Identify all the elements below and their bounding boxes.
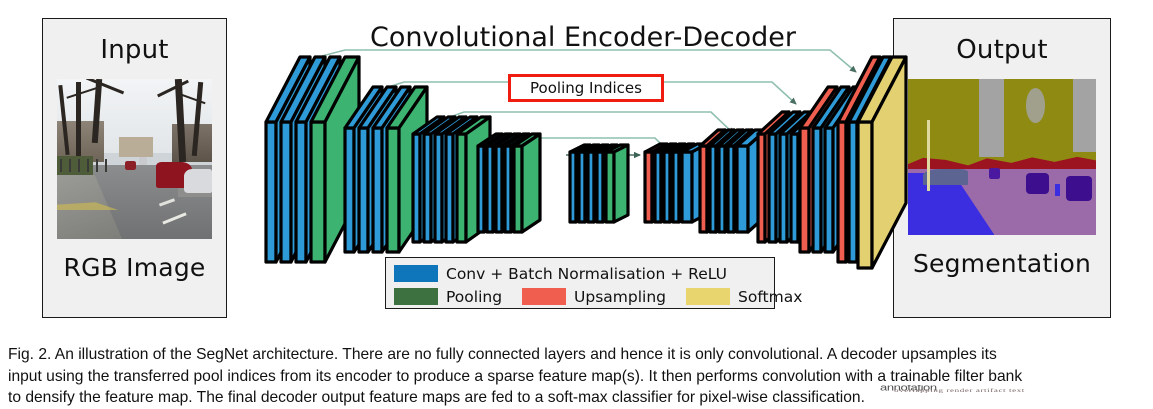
legend-swatch-pooling bbox=[394, 288, 438, 305]
legend-row-conv: Conv + Batch Normalisation + ReLU bbox=[386, 262, 774, 285]
caption-render-artifact: annotation overlapping render artifact t… bbox=[880, 385, 1145, 403]
legend-swatch-upsampling bbox=[522, 288, 566, 305]
legend-label-upsampling: Upsampling bbox=[574, 288, 666, 306]
legend-label-conv: Conv + Batch Normalisation + ReLU bbox=[446, 265, 727, 283]
figure-segnet-architecture: Input bbox=[0, 0, 1153, 340]
legend-label-pooling: Pooling bbox=[446, 288, 502, 306]
caption-artifact-text-2: overlapping render artifact text bbox=[894, 387, 1025, 393]
pooling-indices-label: Pooling Indices bbox=[530, 79, 642, 97]
caption-line-1: Fig. 2. An illustration of the SegNet ar… bbox=[8, 344, 1148, 366]
caption-line-2: input using the transferred pool indices… bbox=[8, 366, 1148, 388]
encoder-block-5 bbox=[570, 145, 628, 222]
encoder-block-4 bbox=[478, 134, 540, 232]
decoder-block-2 bbox=[700, 130, 766, 232]
legend-swatch-softmax bbox=[686, 288, 730, 305]
legend-label-softmax: Softmax bbox=[738, 288, 802, 306]
legend-swatch-conv bbox=[394, 265, 438, 282]
decoder-block-1 bbox=[645, 144, 707, 222]
legend-row-bottom: Pooling Upsampling Softmax bbox=[386, 285, 774, 308]
pooling-indices-box: Pooling Indices bbox=[508, 74, 664, 102]
legend: Conv + Batch Normalisation + ReLU Poolin… bbox=[385, 257, 775, 309]
